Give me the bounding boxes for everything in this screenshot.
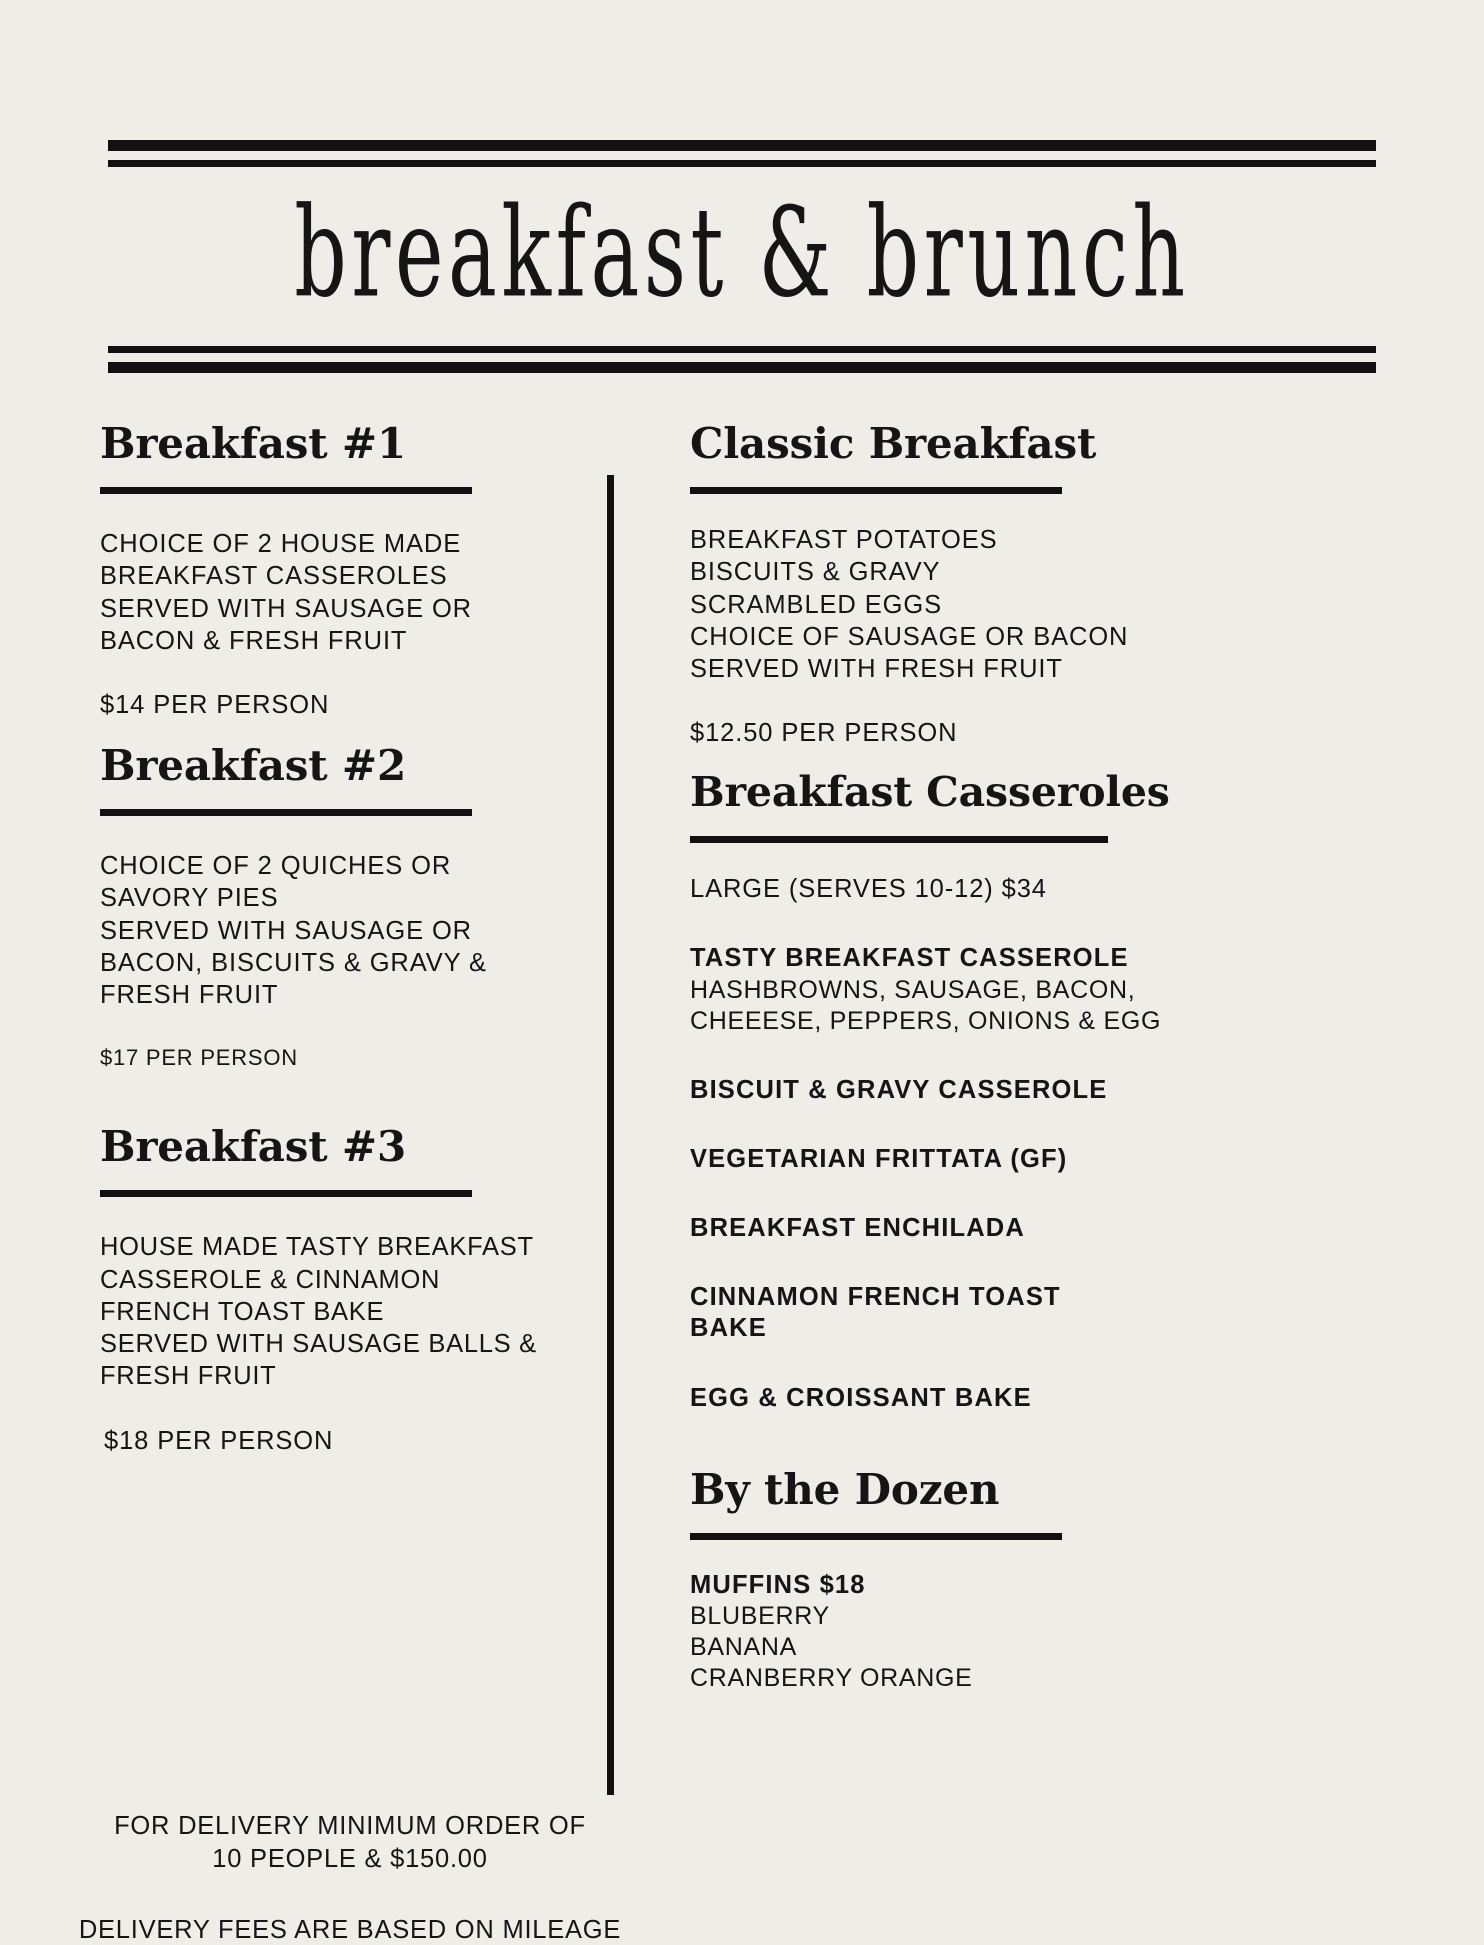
muffin-flavor: CRANBERRY ORANGE — [690, 1663, 1210, 1694]
description-line: HOUSE MADE TASTY BREAKFAST — [100, 1231, 600, 1263]
menu-columns: Breakfast #1 CHOICE OF 2 HOUSE MADE BREA… — [0, 420, 1484, 1850]
casserole-item-name: CINNAMON FRENCH TOAST BAKE — [690, 1282, 1210, 1344]
section-breakfast-3: Breakfast #3 HOUSE MADE TASTY BREAKFAST … — [100, 1123, 600, 1455]
description-line: CHOICE OF 2 QUICHES OR — [100, 850, 600, 882]
delivery-minimum-note: FOR DELIVERY MINIMUM ORDER OF 10 PEOPLE … — [90, 1810, 610, 1875]
detail-line: CHEEESE, PEPPERS, ONIONS & EGG — [690, 1006, 1210, 1037]
section-heading-rule — [690, 1533, 1062, 1540]
section-breakfast-casseroles: Breakfast Casseroles LARGE (SERVES 10-12… — [690, 770, 1210, 1413]
section-breakfast-1: Breakfast #1 CHOICE OF 2 HOUSE MADE BREA… — [100, 420, 600, 720]
description-line: BACON & FRESH FRUIT — [100, 625, 600, 657]
muffin-flavor-list: BLUBERRY BANANA CRANBERRY ORANGE — [690, 1601, 1210, 1695]
menu-page: breakfast & brunch Breakfast #1 CHOICE O… — [0, 0, 1484, 1920]
description-line: CASSEROLE & CINNAMON — [100, 1264, 600, 1296]
description-line: BACON, BISCUITS & GRAVY & — [100, 947, 600, 979]
delivery-fees-note: DELIVERY FEES ARE BASED ON MILEAGE — [60, 1916, 640, 1945]
section-description: CHOICE OF 2 QUICHES OR SAVORY PIES SERVE… — [100, 850, 600, 1011]
section-classic-breakfast: Classic Breakfast BREAKFAST POTATOES BIS… — [690, 420, 1210, 748]
section-price: $18 PER PERSON — [100, 1427, 600, 1456]
description-line: SERVED WITH SAUSAGE OR — [100, 915, 600, 947]
detail-line: HASHBROWNS, SAUSAGE, BACON, — [690, 975, 1210, 1006]
casserole-item-name: EGG & CROISSANT BAKE — [690, 1383, 1210, 1414]
section-heading-rule — [100, 809, 472, 816]
page-title: breakfast & brunch — [222, 146, 1262, 368]
description-line: SAVORY PIES — [100, 882, 600, 914]
section-description: CHOICE OF 2 HOUSE MADE BREAKFAST CASSERO… — [100, 528, 600, 657]
section-heading-rule — [100, 487, 472, 494]
description-line: CHOICE OF SAUSAGE OR BACON — [690, 621, 1210, 653]
section-heading: Classic Breakfast — [690, 420, 1210, 467]
description-line: FRESH FRUIT — [100, 1360, 600, 1392]
column-divider — [607, 475, 614, 1795]
description-line: BREAKFAST POTATOES — [690, 524, 1210, 556]
section-heading-rule — [690, 487, 1062, 494]
section-price: $14 PER PERSON — [100, 691, 600, 720]
casserole-item-detail: HASHBROWNS, SAUSAGE, BACON, CHEEESE, PEP… — [690, 975, 1210, 1038]
description-line: BISCUITS & GRAVY — [690, 556, 1210, 588]
section-description: HOUSE MADE TASTY BREAKFAST CASSEROLE & C… — [100, 1231, 600, 1392]
casserole-item-name: BREAKFAST ENCHILADA — [690, 1213, 1210, 1244]
left-column: Breakfast #1 CHOICE OF 2 HOUSE MADE BREA… — [100, 420, 600, 1456]
section-heading: Breakfast #1 — [100, 420, 600, 467]
delivery-minimum-line-1: FOR DELIVERY MINIMUM ORDER OF — [90, 1810, 610, 1843]
section-by-the-dozen: By the Dozen MUFFINS $18 BLUBERRY BANANA… — [690, 1466, 1210, 1695]
section-description: BREAKFAST POTATOES BISCUITS & GRAVY SCRA… — [690, 524, 1210, 685]
casserole-item-name: BISCUIT & GRAVY CASSEROLE — [690, 1075, 1210, 1106]
description-line: CHOICE OF 2 HOUSE MADE — [100, 528, 600, 560]
masthead: breakfast & brunch — [108, 140, 1376, 373]
description-line: SERVED WITH SAUSAGE OR — [100, 593, 600, 625]
casserole-size-note: LARGE (SERVES 10-12) $34 — [690, 873, 1210, 905]
section-price: $12.50 PER PERSON — [690, 719, 1210, 748]
section-heading: Breakfast #3 — [100, 1123, 600, 1170]
muffin-flavor: BLUBERRY — [690, 1601, 1210, 1632]
description-line: SERVED WITH FRESH FRUIT — [690, 653, 1210, 685]
section-heading-rule — [690, 836, 1108, 843]
muffin-flavor: BANANA — [690, 1632, 1210, 1663]
description-line: FRENCH TOAST BAKE — [100, 1296, 600, 1328]
section-heading: Breakfast Casseroles — [690, 770, 1210, 816]
description-line: SERVED WITH SAUSAGE BALLS & — [100, 1328, 600, 1360]
casserole-item-name: VEGETARIAN FRITTATA (GF) — [690, 1144, 1210, 1175]
description-line: FRESH FRUIT — [100, 979, 600, 1011]
right-column: Classic Breakfast BREAKFAST POTATOES BIS… — [690, 420, 1210, 1695]
delivery-minimum-line-2: 10 PEOPLE & $150.00 — [90, 1843, 610, 1876]
section-heading: Breakfast #2 — [100, 742, 600, 789]
section-heading: By the Dozen — [690, 1466, 1210, 1513]
section-heading-rule — [100, 1190, 472, 1197]
description-line: BREAKFAST CASSEROLES — [100, 560, 600, 592]
casserole-item-name: TASTY BREAKFAST CASSEROLE — [690, 943, 1210, 974]
section-breakfast-2: Breakfast #2 CHOICE OF 2 QUICHES OR SAVO… — [100, 742, 600, 1071]
muffins-label: MUFFINS $18 — [690, 1570, 1210, 1601]
description-line: SCRAMBLED EGGS — [690, 589, 1210, 621]
section-price: $17 PER PERSON — [100, 1045, 600, 1071]
